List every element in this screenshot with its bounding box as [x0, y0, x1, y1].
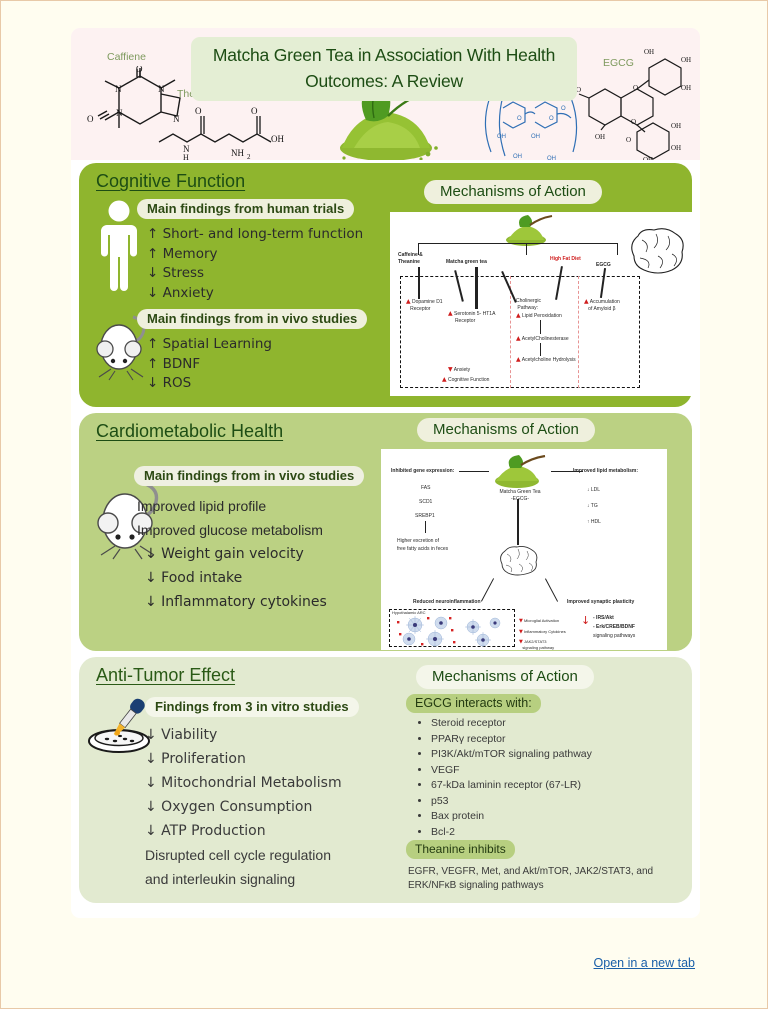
findings-in-vivo: ↑ Spatial Learning ↑ BDNF ↓ ROS	[147, 335, 272, 394]
diagram-label-matcha: Matcha green tea	[446, 259, 487, 265]
svg-text:OH: OH	[643, 156, 653, 160]
svg-text:N: N	[115, 84, 122, 94]
finding-item: ↑ Short- and long-term function	[147, 225, 363, 245]
svg-text:OH: OH	[644, 48, 654, 56]
svg-text:OH: OH	[671, 122, 681, 130]
diagram-neuro-item: ▼ Microglial Activation	[519, 618, 559, 624]
diagram-heading-neuroinflammation: Reduced neuroinflammation	[413, 599, 481, 605]
brain-icon	[626, 226, 688, 280]
svg-text:OH: OH	[671, 144, 681, 152]
pill-human-trials: Main findings from human trials	[137, 199, 354, 219]
diagram-line	[526, 243, 527, 255]
svg-text:O: O	[195, 106, 202, 116]
caffeine-label: Caffiene	[107, 51, 146, 63]
svg-text:O: O	[251, 106, 258, 116]
section-anti-tumor-effect[interactable]: Anti-Tumor Effect Findings from 3 in vit…	[79, 657, 692, 903]
svg-text:O: O	[626, 136, 631, 144]
finding-item: ↓ Proliferation	[145, 747, 342, 771]
egcg-interacts-pill: EGCG interacts with:	[406, 694, 541, 713]
diagram-label-high-fat-diet: High Fat Diet	[550, 256, 581, 262]
diagram-arrow	[425, 521, 426, 533]
diagram-arrow	[459, 471, 489, 472]
theanine-note-line: EGFR, VEGFR, Met, and Akt/mTOR, JAK2/STA…	[408, 865, 653, 879]
finding-item: Disrupted cell cycle regulation	[145, 843, 342, 867]
finding-item: Improved lipid profile	[137, 494, 327, 518]
graphical-abstract-card[interactable]: Caffiene O O N N N N Theanine	[71, 28, 700, 918]
diagram-gene-item: FAS	[421, 485, 430, 491]
finding-item: ↓ Mitochondrial Metabolism	[145, 771, 342, 795]
list-item: PPARγ receptor	[431, 732, 592, 748]
svg-text:NH: NH	[231, 148, 244, 158]
diagram-node-ach-hydrolysis: ▲ Acetylcholine Hydrolysis	[516, 357, 576, 363]
diagram-lipid-item: ↓ LDL	[587, 487, 600, 493]
diagram-lipid-item: ↓ TG	[587, 503, 598, 509]
theanine-note-line: ERK/NFκB signaling pathways	[408, 879, 653, 893]
pill-in-vivo-wrap: Main findings from in vivo studies	[137, 309, 367, 329]
diagram-outcome-cognitive-function: ▲ Cognitive Function	[442, 377, 489, 383]
list-item: p53	[431, 794, 592, 810]
diagram-neuro-item: ▼ Inflammatory Cytokines	[519, 629, 566, 635]
finding-item: ↓ Weight gain velocity	[137, 542, 327, 566]
findings-human-trials: ↑ Short- and long-term function ↑ Memory…	[147, 225, 363, 303]
diagram-divider	[578, 276, 579, 388]
moa-heading-tumor-wrap: Mechanisms of Action	[416, 665, 594, 689]
diagram-dashed-box	[400, 276, 640, 388]
diagram-node-cholinergic: Cholinergic Pathway:	[516, 298, 541, 312]
theanine-note: EGFR, VEGFR, Met, and Akt/mTOR, JAK2/STA…	[408, 865, 653, 893]
svg-text:O: O	[136, 66, 143, 74]
diagram-gene-item: SREBP1	[415, 513, 435, 519]
moa-heading-cardio: Mechanisms of Action	[417, 418, 595, 442]
theanine-inhibits-pill: Theanine inhibits	[406, 840, 515, 859]
list-item: PI3K/Akt/mTOR signaling pathway	[431, 747, 592, 763]
svg-text:OH: OH	[497, 134, 506, 140]
svg-text:2: 2	[247, 153, 251, 160]
diagram-arrow	[540, 343, 541, 356]
svg-text:O: O	[633, 84, 638, 92]
diagram-synaptic-item: - Erk/CREB/BDNF	[593, 624, 635, 630]
svg-text:OH: OH	[681, 84, 691, 92]
microglia-illustration	[391, 613, 513, 647]
moa-heading-cognitive-wrap: Mechanisms of Action	[424, 180, 602, 204]
diagram-left-outcome: Higher excretion offree fatty acids in f…	[397, 537, 448, 553]
egcg-target-list: Steroid receptor PPARγ receptor PI3K/Akt…	[414, 716, 592, 840]
page-title: Matcha Green Tea in Association With Hea…	[191, 37, 577, 101]
list-item: Steroid receptor	[431, 716, 592, 732]
svg-text:N: N	[158, 84, 165, 94]
moa-diagram-cardio[interactable]: Matcha Green Tea-EGCG- Inhibited gene ex…	[381, 449, 667, 650]
theanine-structure-icon: O O N H OH NH 2	[155, 102, 290, 160]
list-item: Bax protein	[431, 809, 592, 825]
diagram-neuro-item: ▼ JAK2/STAT3 signaling pathway	[519, 639, 554, 650]
diagram-synaptic-item: signaling pathways	[593, 633, 635, 639]
egcg-pill-wrap: EGCG interacts with:	[406, 694, 541, 713]
list-item: 67-kDa laminin receptor (67-LR)	[431, 778, 592, 794]
finding-item: ↑ BDNF	[147, 355, 272, 375]
pill-cardio-in-vivo-studies: Main findings from in vivo studies	[134, 466, 364, 486]
finding-item: ↓ Stress	[147, 264, 363, 284]
finding-item: ↑ Memory	[147, 245, 363, 265]
diagram-node-lipid-peroxidation: ▲ Lipid Peroxidation	[516, 313, 562, 319]
section-title-anti-tumor: Anti-Tumor Effect	[96, 665, 235, 686]
pill-in-vitro-studies: Findings from 3 in vitro studies	[145, 697, 359, 717]
finding-item: ↓ Viability	[145, 723, 342, 747]
moa-heading-cardio-wrap: Mechanisms of Action	[417, 418, 595, 442]
finding-item: ↓ Anxiety	[147, 284, 363, 304]
down-arrow-icon: ↓	[581, 614, 590, 627]
diagram-node-amyloid: ▲ Accumulation of Amyloid β	[584, 298, 620, 313]
diagram-arrow	[481, 578, 494, 602]
svg-text:O: O	[561, 106, 566, 112]
diagram-node-serotonin: ▲ Serotonin 5- HT1A Receptor	[448, 310, 495, 325]
section-title-cognitive: Cognitive Function	[96, 171, 245, 192]
findings-cardio: Improved lipid profile Improved glucose …	[137, 494, 327, 614]
diagram-arrow	[545, 578, 558, 602]
diagram-node-dopamine: ▲ Dopamine D1 Receptor	[406, 298, 443, 313]
title-line-2: Outcomes: A Review	[197, 68, 571, 94]
finding-item: and interleukin signaling	[145, 867, 342, 891]
diagram-arrow	[418, 267, 420, 299]
pill-human-trials-wrap: Main findings from human trials	[137, 199, 354, 219]
diagram-lipid-item: ↑ HDL	[587, 519, 601, 525]
svg-text:O: O	[549, 116, 554, 122]
diagram-gene-item: SCD1	[419, 499, 432, 505]
title-line-1: Matcha Green Tea in Association With Hea…	[197, 42, 571, 68]
human-figure-icon	[96, 199, 142, 291]
svg-text:OH: OH	[271, 134, 284, 144]
diagram-label-caffeine-theanine: Caffeine &Theanine	[398, 252, 423, 266]
matcha-powder-icon	[491, 455, 547, 489]
list-item: VEGF	[431, 763, 592, 779]
diagram-arrow	[475, 267, 478, 309]
finding-item: ↓ ATP Production	[145, 819, 342, 843]
findings-anti-tumor: ↓ Viability ↓ Proliferation ↓ Mitochondr…	[145, 723, 342, 891]
diagram-line	[418, 243, 618, 244]
moa-diagram-cognitive[interactable]: Caffeine &Theanine Matcha green tea High…	[390, 212, 692, 396]
svg-text:O: O	[87, 114, 94, 124]
diagram-node-ache: ▲ AcetylCholinesterase	[516, 336, 569, 342]
diagram-heading-inhibited-genes: Inhibited gene expression:	[391, 468, 454, 474]
svg-text:OH: OH	[531, 134, 540, 140]
pill-in-vitro-wrap: Findings from 3 in vitro studies	[145, 697, 359, 717]
brain-icon	[497, 545, 541, 579]
svg-text:OH: OH	[513, 154, 522, 160]
header-band: Caffiene O O N N N N Theanine	[71, 28, 700, 160]
open-in-new-tab-link[interactable]: Open in a new tab	[594, 956, 695, 970]
diagram-arrow	[517, 499, 519, 545]
diagram-heading-synaptic-plasticity: Improved synaptic plasticity	[567, 599, 634, 605]
theanine-pill-wrap: Theanine inhibits	[406, 840, 515, 859]
pill-cardio-in-vivo-wrap: Main findings from in vivo studies	[134, 466, 364, 486]
list-item: Bcl-2	[431, 825, 592, 841]
diagram-line	[617, 243, 618, 255]
diagram-center-label: Matcha Green Tea-EGCG-	[491, 489, 549, 503]
svg-text:OH: OH	[681, 56, 691, 64]
section-cardiometabolic-health[interactable]: Cardiometabolic Health Main findings fro…	[79, 413, 692, 651]
svg-text:OH: OH	[595, 133, 605, 141]
finding-item: ↓ ROS	[147, 374, 272, 394]
egcg-structure-icon: HO OH O OH OH OH O O OH OH OH	[571, 46, 695, 160]
finding-item: ↓ Oxygen Consumption	[145, 795, 342, 819]
finding-item: Improved glucose metabolism	[137, 518, 327, 542]
section-cognitive-function[interactable]: Cognitive Function Main findings from hu…	[79, 163, 692, 407]
moa-heading-cognitive: Mechanisms of Action	[424, 180, 602, 204]
svg-text:OH: OH	[547, 156, 556, 160]
svg-text:O: O	[517, 116, 522, 122]
moa-heading-anti-tumor: Mechanisms of Action	[416, 665, 594, 689]
diagram-synaptic-item: - IRS/Akt	[593, 615, 614, 621]
finding-item: ↓ Food intake	[137, 566, 327, 590]
section-title-cardiometabolic: Cardiometabolic Health	[96, 421, 283, 442]
finding-item: ↓ Inflammatory cytokines	[137, 590, 327, 614]
finding-item: ↑ Spatial Learning	[147, 335, 272, 355]
pill-in-vivo-studies: Main findings from in vivo studies	[137, 309, 367, 329]
diagram-outcome-anxiety: ▼ Anxiety	[448, 367, 470, 373]
svg-text:H: H	[183, 153, 189, 160]
diagram-arrow	[540, 320, 541, 334]
svg-text:O: O	[631, 118, 636, 126]
diagram-heading-lipid-metabolism: Improved lipid metabolism:	[573, 468, 638, 474]
